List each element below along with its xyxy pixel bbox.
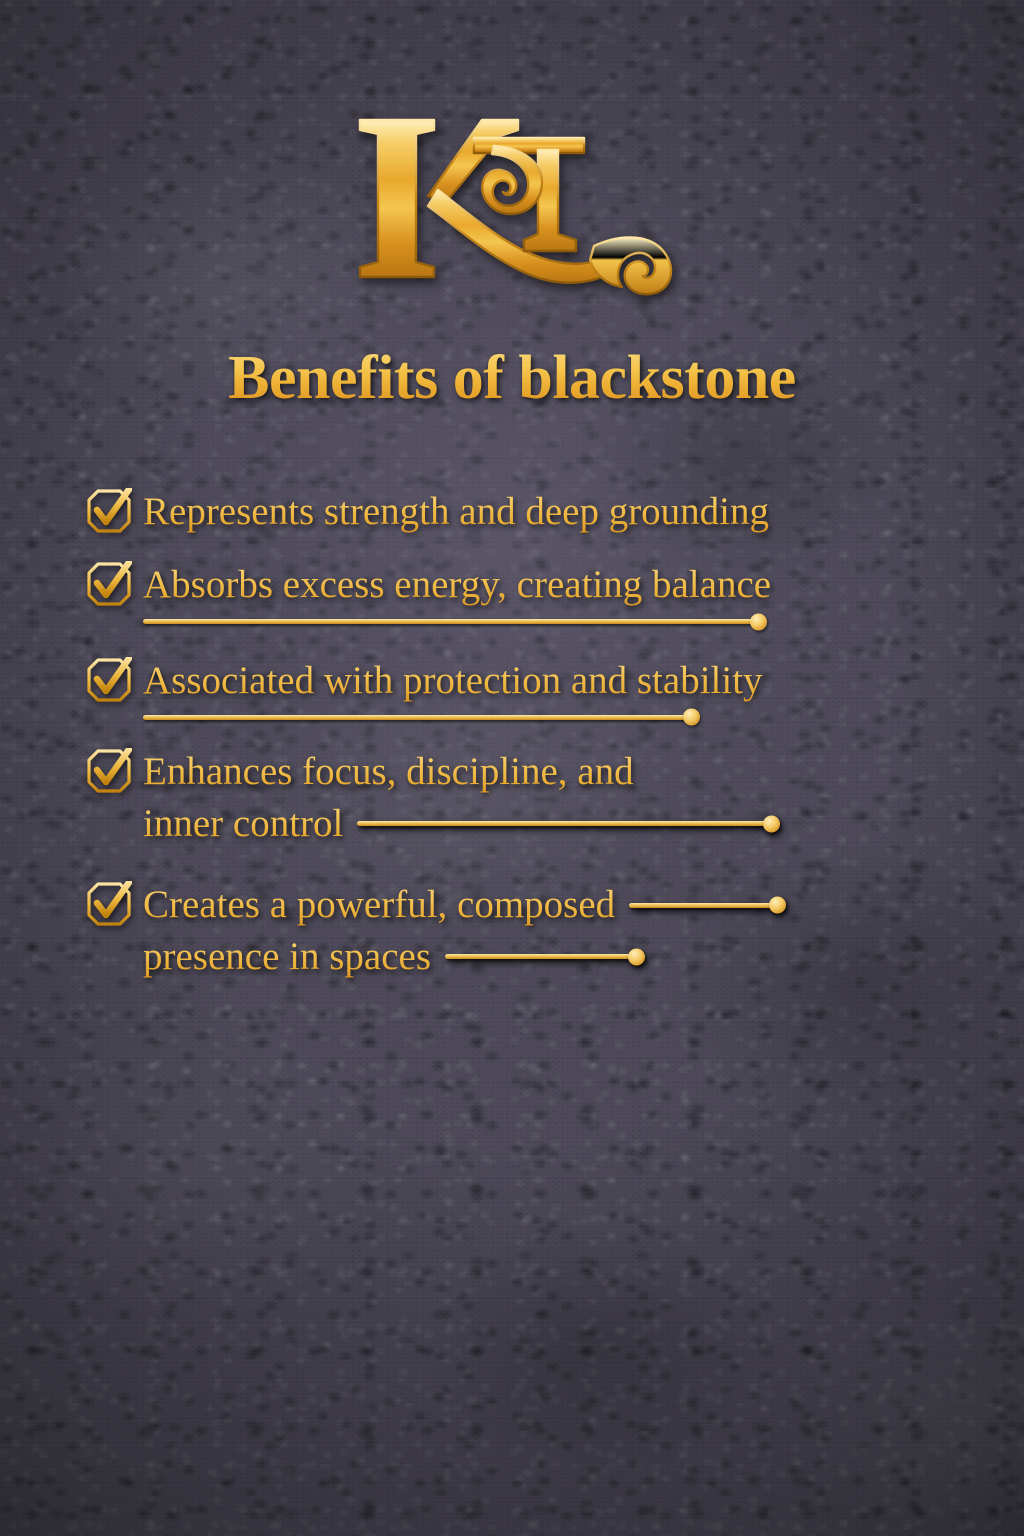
- decorative-rule-row: [143, 706, 986, 728]
- check-octagon-icon: [86, 488, 132, 534]
- list-item-body: Associated with protection and stability: [143, 655, 986, 728]
- decorative-rule: [143, 619, 760, 624]
- list-item-body: Represents strength and deep grounding: [143, 486, 986, 537]
- list-item-text: Creates a powerful, composed: [143, 879, 615, 930]
- check-octagon-icon: [86, 748, 132, 794]
- list-item-line: inner control: [143, 798, 986, 849]
- list-item: Enhances focus, discipline, and inner co…: [86, 746, 986, 849]
- decorative-rule: [445, 954, 638, 959]
- list-item-text: presence in spaces: [143, 931, 431, 982]
- list-item-line: Absorbs excess energy, creating balance: [143, 559, 986, 610]
- list-item-text: Represents strength and deep grounding: [143, 486, 769, 537]
- list-item-text: Associated with protection and stability: [143, 655, 763, 706]
- list-item: Associated with protection and stability: [86, 655, 986, 728]
- poster-canvas: Benefits of blackstone Represents stren: [0, 0, 1024, 1536]
- list-item-line: Creates a powerful, composed: [143, 879, 986, 930]
- list-item-body: Enhances focus, discipline, and inner co…: [143, 746, 986, 849]
- list-item-line: Associated with protection and stability: [143, 655, 986, 706]
- list-item: Creates a powerful, composed presence in…: [86, 879, 986, 982]
- check-octagon-icon: [86, 881, 132, 927]
- decorative-rule: [629, 903, 779, 908]
- decorative-rule-row: [143, 611, 986, 633]
- page-title: Benefits of blackstone: [0, 346, 1024, 412]
- list-item-text: Enhances focus, discipline, and: [143, 746, 634, 797]
- check-octagon-icon: [86, 657, 132, 703]
- list-item-line: Enhances focus, discipline, and: [143, 746, 986, 797]
- poster-content: Benefits of blackstone Represents stren: [0, 0, 1024, 1536]
- list-item-body: Creates a powerful, composed presence in…: [143, 879, 986, 982]
- benefits-list: Represents strength and deep grounding A…: [86, 486, 986, 982]
- brand-logo: [0, 96, 1024, 306]
- kj-monogram-logo: [342, 106, 682, 296]
- list-item-text: inner control: [143, 798, 343, 849]
- decorative-rule: [357, 821, 773, 826]
- check-octagon-icon: [86, 561, 132, 607]
- decorative-rule: [143, 715, 693, 720]
- list-item-body: Absorbs excess energy, creating balance: [143, 559, 986, 632]
- list-item-line: presence in spaces: [143, 931, 986, 982]
- list-item: Represents strength and deep grounding: [86, 486, 986, 537]
- list-item: Absorbs excess energy, creating balance: [86, 559, 986, 632]
- list-item-text: Absorbs excess energy, creating balance: [143, 559, 771, 610]
- list-item-line: Represents strength and deep grounding: [143, 486, 986, 537]
